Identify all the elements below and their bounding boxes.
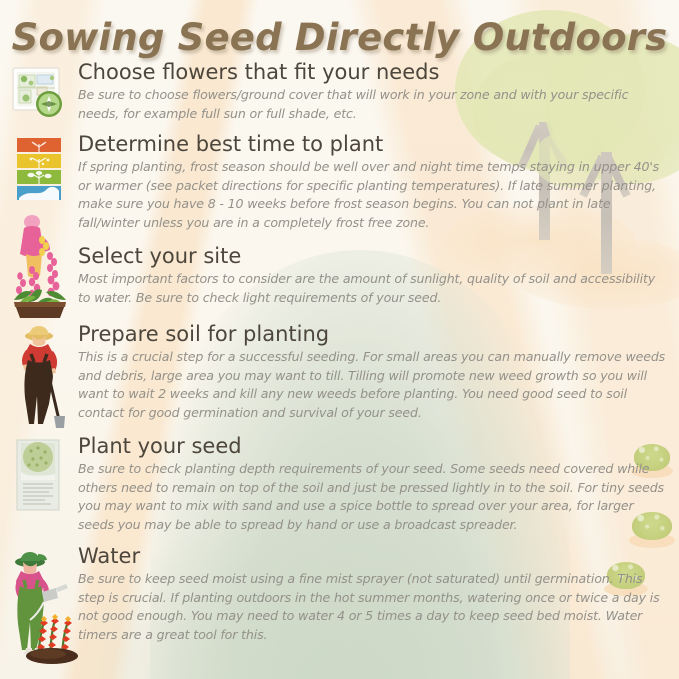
icon-slot-5 [0,434,78,512]
step-heading: Plant your seed [78,434,669,459]
step-determine-time: Determine best time to plant If spring p… [0,132,679,244]
step-text: Be sure to check planting depth requirem… [78,460,669,534]
steps-list: Choose flowers that fit your needs Be su… [0,60,679,664]
step-text: Most important factors to consider are t… [78,270,669,307]
step-body-6: Water Be sure to keep seed moist using a… [78,544,679,644]
step-body-5: Plant your seed Be sure to check plantin… [78,434,679,534]
four-seasons-icon [17,138,61,200]
garden-plan-compass-icon [11,66,67,118]
step-body-4: Prepare soil for planting This is a cruc… [78,322,679,422]
gardener-watering-icon [6,548,62,669]
step-text: This is a crucial step for a successful … [78,348,669,422]
seed-packet-icon [13,438,65,512]
icon-slot-2 [0,132,78,200]
step-water: Water Be sure to keep seed moist using a… [0,544,679,664]
step-choose-flowers: Choose flowers that fit your needs Be su… [0,60,679,132]
step-heading: Water [78,544,669,569]
gardener-with-shovel-icon [12,324,68,433]
step-heading: Choose flowers that fit your needs [78,60,669,85]
step-text: Be sure to choose flowers/ground cover t… [78,86,669,123]
infographic-poster: Sowing Seed Directly Outdoors [0,0,679,679]
step-select-site: Select your site Most important factors … [0,244,679,322]
step-heading: Prepare soil for planting [78,322,669,347]
step-heading: Determine best time to plant [78,132,669,157]
step-prepare-soil: Prepare soil for planting This is a cruc… [0,322,679,434]
icon-slot-1 [0,60,78,118]
planting-flowers-icon [10,214,66,327]
step-body-3: Select your site Most important factors … [78,244,679,307]
page-title: Sowing Seed Directly Outdoors [0,16,679,59]
step-plant-seed: Plant your seed Be sure to check plantin… [0,434,679,544]
step-heading: Select your site [78,244,669,269]
step-text: If spring planting, frost season should … [78,158,669,232]
step-body-1: Choose flowers that fit your needs Be su… [78,60,679,123]
step-body-2: Determine best time to plant If spring p… [78,132,679,232]
step-text: Be sure to keep seed moist using a fine … [78,570,669,644]
